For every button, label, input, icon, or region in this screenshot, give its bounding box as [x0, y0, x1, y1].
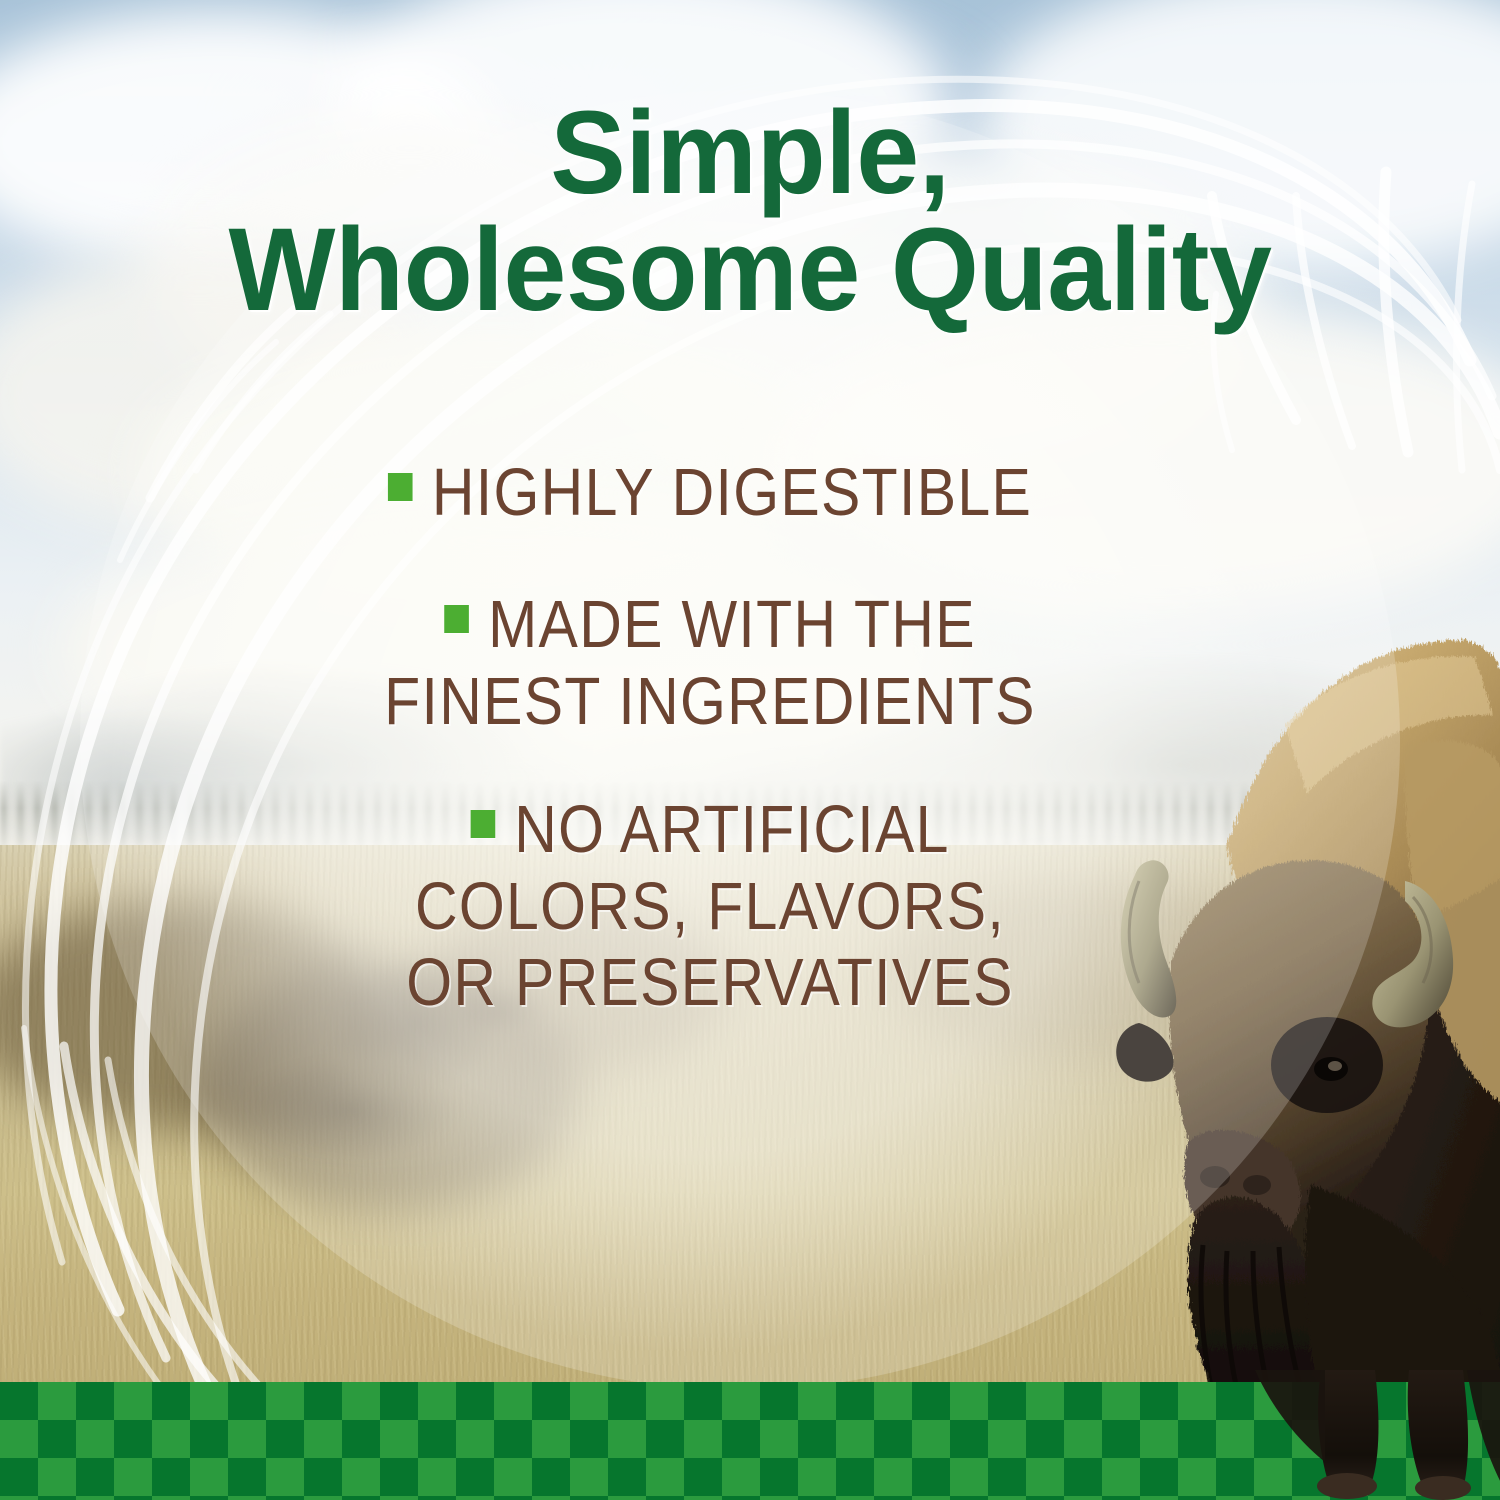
bullet-square-icon [444, 605, 469, 633]
list-item: MADE WITH THE FINEST INGREDIENTS [376, 587, 1045, 740]
list-item-label: NO ARTIFICIAL COLORS, FLAVORS, OR PRESER… [406, 792, 1014, 1020]
page-title: Simple, Wholesome Quality [0, 95, 1500, 329]
list-item-label: HIGHLY DIGESTIBLE [432, 455, 1032, 530]
feature-list: HIGHLY DIGESTIBLE MADE WITH THE FINEST I… [330, 455, 1090, 1021]
headline-line-2: Wholesome Quality [30, 212, 1470, 329]
headline-line-1: Simple, [30, 95, 1470, 212]
bison-photo [1075, 545, 1500, 1425]
list-item: HIGHLY DIGESTIBLE [376, 455, 1045, 531]
list-item-label: MADE WITH THE FINEST INGREDIENTS [384, 587, 1036, 738]
bullet-square-icon [470, 810, 495, 838]
bullet-square-icon [388, 473, 413, 501]
promo-banner: Simple, Wholesome Quality HIGHLY DIGESTI… [0, 0, 1500, 1500]
list-item: NO ARTIFICIAL COLORS, FLAVORS, OR PRESER… [376, 792, 1045, 1021]
bison-legs-overlay [1075, 1370, 1500, 1500]
